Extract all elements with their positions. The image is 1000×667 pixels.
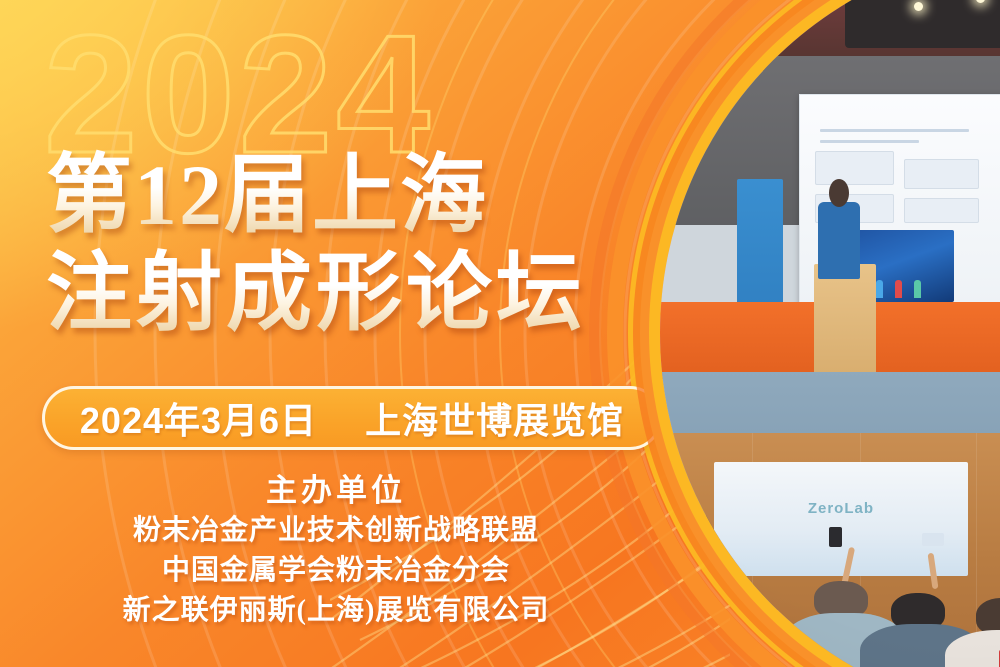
conference-hall-photo: ZeroLab [660, 0, 1000, 667]
title-line-1: 第12届上海 [46, 146, 646, 244]
date-venue-text: 2024年3月6日 上海世博展览馆 [80, 392, 624, 444]
left-content-column: 第12届上海 注射成形论坛 2024年3月6日 上海世博展览馆 主办单位 粉末冶… [0, 0, 680, 667]
venue-text: 上海世博展览馆 [365, 400, 624, 441]
organizer-block: 主办单位 粉末冶金产业技术创新战略联盟 中国金属学会粉末冶金分会 新之联伊丽斯(… [0, 472, 672, 632]
poster-title: 第12届上海 注射成形论坛 [46, 146, 646, 342]
photo-vignette [660, 0, 1000, 667]
organizer-line-2: 中国金属学会粉末冶金分会 [0, 551, 672, 591]
date-text: 2024年3月6日 [80, 400, 317, 441]
date-venue-pill: 2024年3月6日 上海世博展览馆 [42, 386, 662, 450]
organizer-line-3: 新之联伊丽斯(上海)展览有限公司 [0, 591, 672, 631]
title-line-2: 注射成形论坛 [46, 244, 646, 342]
organizer-heading: 主办单位 [0, 472, 672, 511]
organizer-line-1: 粉末冶金产业技术创新战略联盟 [0, 511, 672, 551]
poster-root: 2024 第12届上海 注射成形论坛 2024年3月6日 上海世博展览馆 主办单… [0, 0, 1000, 667]
conference-photo-circle: ZeroLab [660, 0, 1000, 667]
